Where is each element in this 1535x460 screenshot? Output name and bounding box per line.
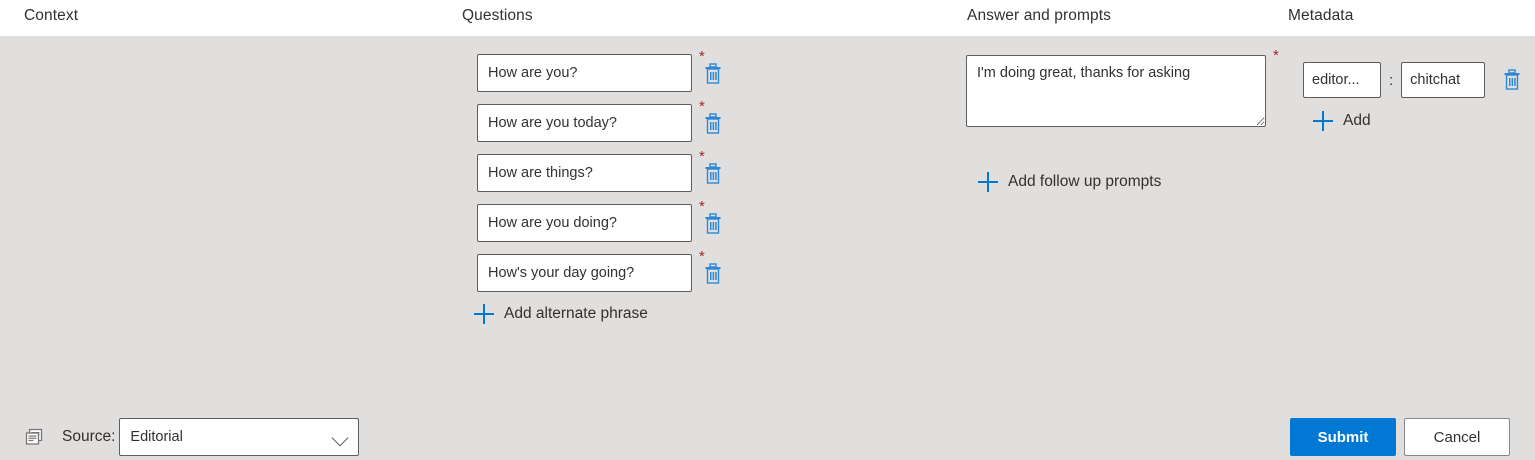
- delete-question-button[interactable]: [702, 62, 724, 86]
- column-header-bar: Context Questions Answer and prompts Met…: [0, 0, 1535, 36]
- trash-icon: [702, 62, 724, 86]
- question-row: *: [477, 254, 737, 304]
- answer-field-wrapper: *: [966, 55, 1266, 127]
- plus-icon: [978, 172, 998, 192]
- trash-icon: [702, 212, 724, 236]
- column-header-metadata: Metadata: [1288, 7, 1353, 25]
- metadata-key-input[interactable]: [1303, 62, 1381, 98]
- add-alternate-phrase-button[interactable]: Add alternate phrase: [474, 304, 648, 324]
- add-metadata-label: Add: [1343, 112, 1371, 130]
- trash-icon: [702, 162, 724, 186]
- source-label: Source:: [62, 428, 115, 446]
- column-header-questions: Questions: [462, 7, 533, 25]
- delete-question-button[interactable]: [702, 212, 724, 236]
- question-input[interactable]: [477, 54, 692, 92]
- trash-icon: [1501, 68, 1523, 92]
- metadata-column: : Add: [1303, 62, 1523, 131]
- delete-question-button[interactable]: [702, 262, 724, 286]
- plus-icon: [1313, 111, 1333, 131]
- source-group: Source: Editorial: [24, 418, 359, 456]
- context-column: [0, 36, 460, 376]
- documents-icon: [24, 427, 44, 447]
- add-metadata-button[interactable]: Add: [1313, 111, 1523, 131]
- source-dropdown[interactable]: Editorial: [119, 418, 359, 456]
- source-selected-value: Editorial: [130, 429, 182, 445]
- answer-textarea[interactable]: [966, 55, 1266, 127]
- footer-actions: Submit Cancel: [1290, 418, 1510, 456]
- metadata-value-input[interactable]: [1401, 62, 1485, 98]
- question-row: *: [477, 154, 737, 204]
- add-follow-up-prompts-label: Add follow up prompts: [1008, 173, 1161, 191]
- trash-icon: [702, 112, 724, 136]
- required-asterisk: *: [1273, 49, 1279, 63]
- question-input[interactable]: [477, 204, 692, 242]
- question-input[interactable]: [477, 104, 692, 142]
- footer-bar: Source: Editorial Submit Cancel: [0, 376, 1535, 460]
- question-row: *: [477, 204, 737, 254]
- question-row: *: [477, 54, 737, 104]
- questions-column: * *: [477, 54, 737, 304]
- plus-icon: [474, 304, 494, 324]
- chevron-down-icon: [332, 430, 349, 447]
- metadata-separator: :: [1389, 72, 1393, 89]
- delete-question-button[interactable]: [702, 162, 724, 186]
- add-follow-up-prompts-button[interactable]: Add follow up prompts: [978, 172, 1161, 192]
- question-input[interactable]: [477, 254, 692, 292]
- delete-metadata-button[interactable]: [1501, 68, 1523, 92]
- delete-question-button[interactable]: [702, 112, 724, 136]
- add-alternate-phrase-label: Add alternate phrase: [504, 305, 648, 323]
- cancel-button[interactable]: Cancel: [1404, 418, 1510, 456]
- answer-column: * Add follow up prompts: [966, 55, 1266, 127]
- question-row: *: [477, 104, 737, 154]
- trash-icon: [702, 262, 724, 286]
- column-header-context: Context: [24, 7, 78, 25]
- metadata-row: :: [1303, 62, 1523, 98]
- question-input[interactable]: [477, 154, 692, 192]
- column-header-answer-and-prompts: Answer and prompts: [967, 7, 1111, 25]
- submit-button[interactable]: Submit: [1290, 418, 1396, 456]
